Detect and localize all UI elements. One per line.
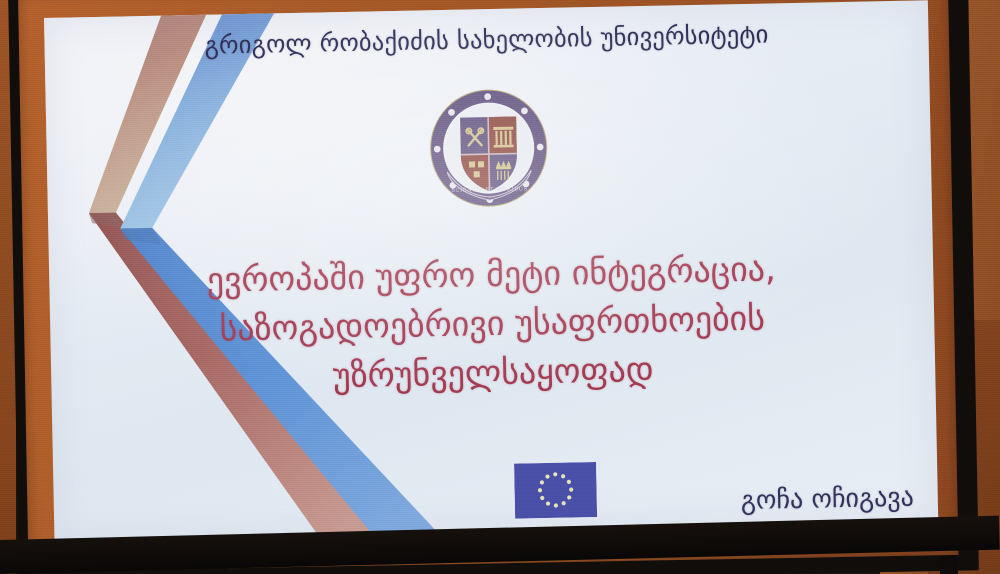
eu-flag-icon bbox=[514, 462, 597, 519]
slide-title: ევროპაში უფრო მეტი ინტეგრაცია, საზოგადოე… bbox=[49, 242, 936, 407]
speaker-name: გოჩა ოჩიგავა bbox=[614, 483, 915, 519]
university-logo: SCIENTIA ET MORIBUS bbox=[426, 86, 550, 210]
projection-screen: გრიგოლ რობაქიძის სახელობის უნივერსიტეტი bbox=[44, 0, 938, 540]
photo-scene: გრიგოლ რობაქიძის სახელობის უნივერსიტეტი bbox=[0, 0, 1000, 574]
slide-header-university-name: გრიგოლ რობაქიძის სახელობის უნივერსიტეტი bbox=[44, 16, 928, 63]
